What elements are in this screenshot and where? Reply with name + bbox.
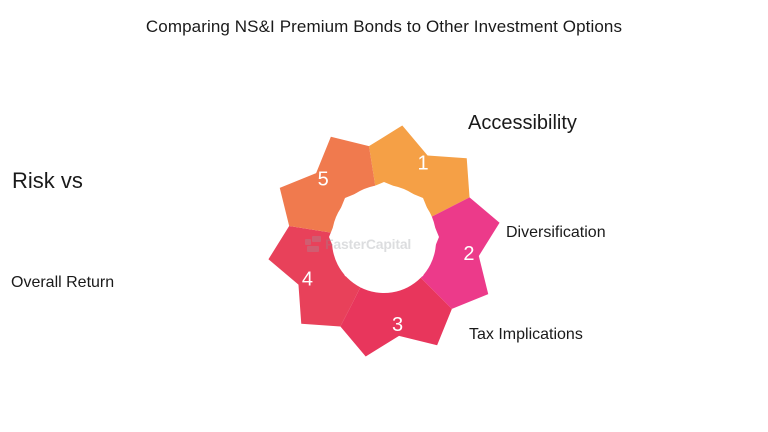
page-title: Comparing NS&I Premium Bonds to Other In…: [0, 17, 768, 37]
label-risk-vs: Risk vs: [12, 168, 83, 194]
label-overall-return: Overall Return: [11, 274, 114, 292]
segment-number-2: 2: [463, 243, 474, 265]
label-tax-implications: Tax Implications: [469, 326, 583, 344]
label-diversification: Diversification: [506, 224, 606, 242]
donut-diagram: 12345: [262, 124, 506, 358]
segment-number-5: 5: [318, 168, 329, 190]
donut-inner-circle: [332, 185, 436, 289]
label-accessibility: Accessibility: [468, 112, 577, 135]
segment-number-4: 4: [302, 268, 313, 290]
segment-number-1: 1: [417, 153, 428, 175]
segment-number-3: 3: [392, 314, 403, 336]
